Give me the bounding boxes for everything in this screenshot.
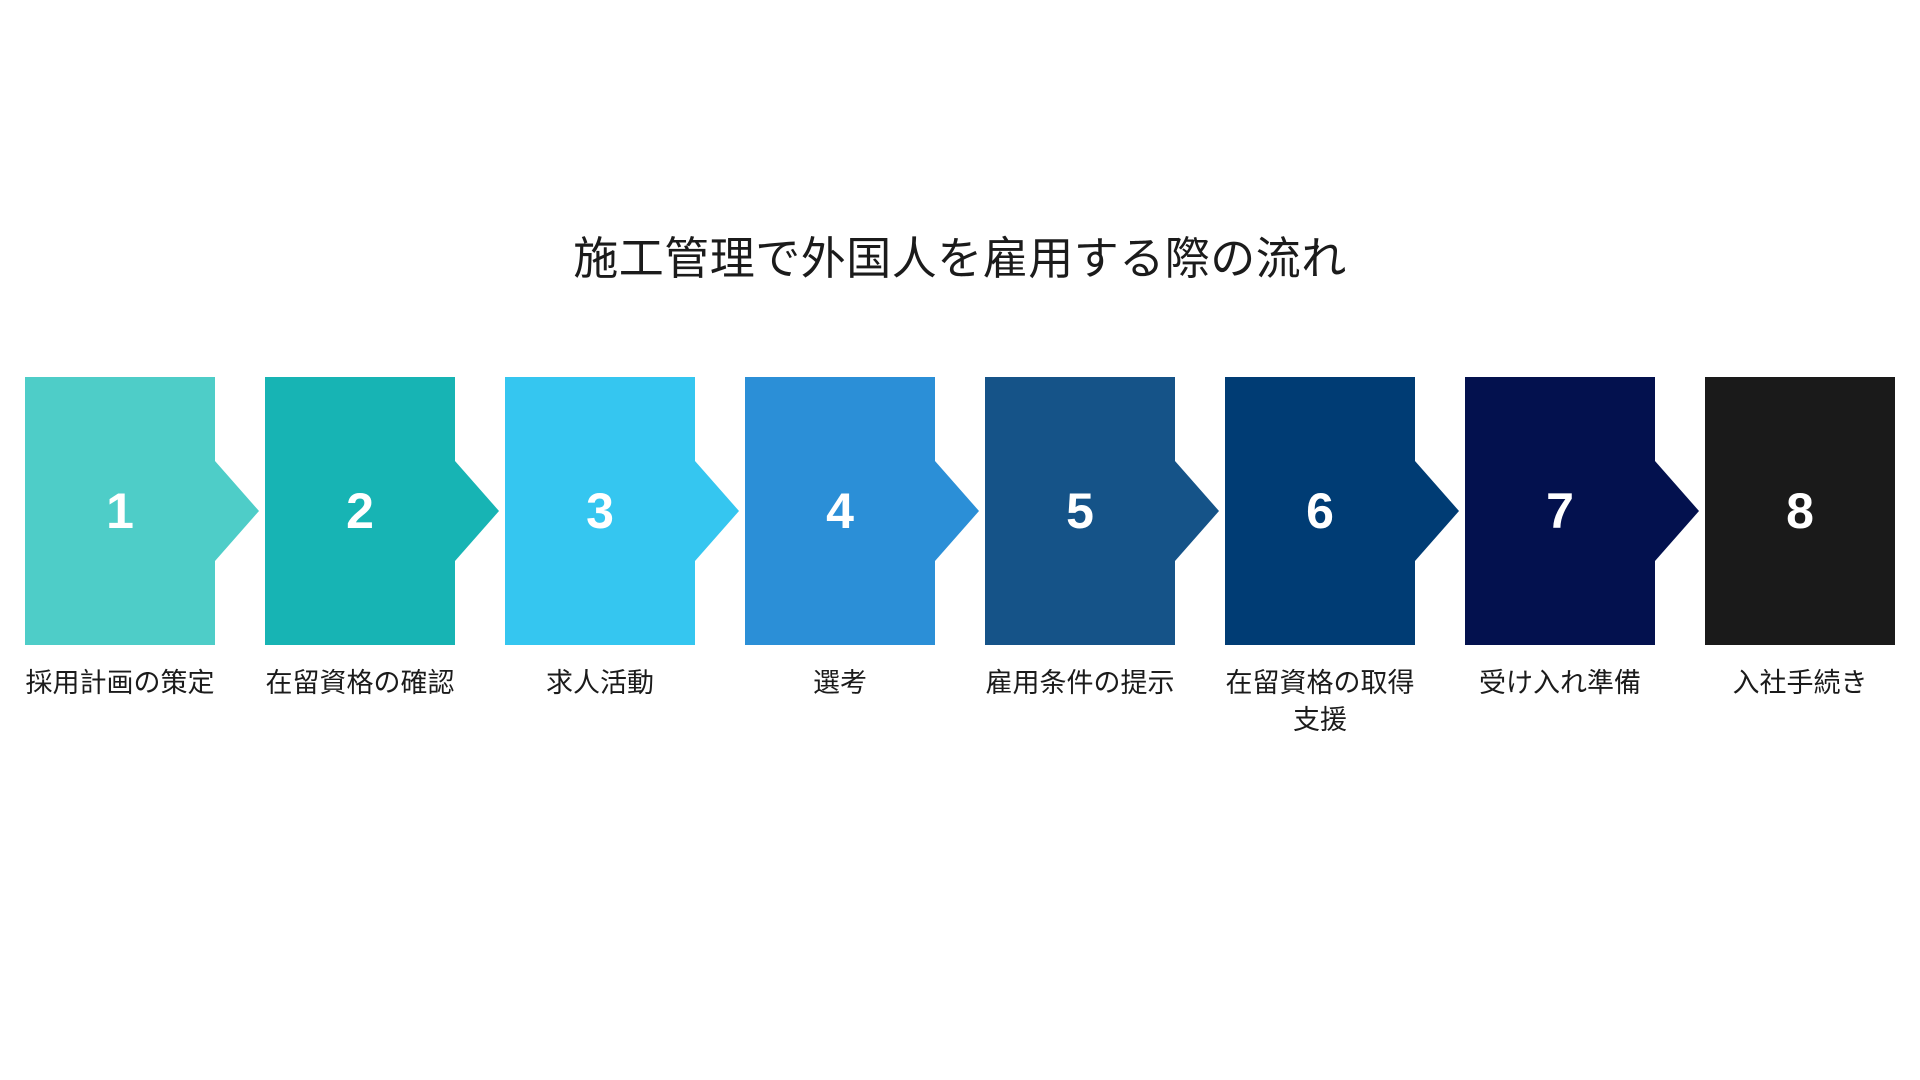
arrow-right-icon [1655, 461, 1699, 561]
arrow-right-icon [215, 461, 259, 561]
arrow-right-icon [695, 461, 739, 561]
process-step-2[interactable]: 2在留資格の確認 [265, 377, 455, 645]
process-step-1[interactable]: 1採用計画の策定 [25, 377, 215, 645]
step-number-8: 8 [1705, 377, 1895, 645]
diagram-canvas: 施工管理で外国人を雇用する際の流れ 1採用計画の策定2在留資格の確認3求人活動4… [0, 0, 1920, 1080]
arrow-right-icon [1415, 461, 1459, 561]
step-number-5: 5 [985, 377, 1175, 645]
step-number-7: 7 [1465, 377, 1655, 645]
process-step-7[interactable]: 7受け入れ準備 [1465, 377, 1655, 645]
step-label-2: 在留資格の確認 [257, 665, 463, 702]
step-label-6: 在留資格の取得支援 [1217, 665, 1423, 740]
step-number-1: 1 [25, 377, 215, 645]
step-label-7: 受け入れ準備 [1457, 665, 1663, 702]
step-number-2: 2 [265, 377, 455, 645]
arrow-right-icon [935, 461, 979, 561]
process-step-5[interactable]: 5雇用条件の提示 [985, 377, 1175, 645]
step-label-8: 入社手続き [1697, 665, 1903, 702]
process-step-6[interactable]: 6在留資格の取得支援 [1225, 377, 1415, 645]
step-label-1: 採用計画の策定 [17, 665, 223, 702]
step-number-4: 4 [745, 377, 935, 645]
page-title: 施工管理で外国人を雇用する際の流れ [0, 232, 1920, 286]
process-flow-row: 1採用計画の策定2在留資格の確認3求人活動4選考5雇用条件の提示6在留資格の取得… [25, 377, 1895, 647]
process-step-8[interactable]: 8入社手続き [1705, 377, 1895, 645]
step-number-3: 3 [505, 377, 695, 645]
arrow-right-icon [455, 461, 499, 561]
process-step-4[interactable]: 4選考 [745, 377, 935, 645]
step-number-6: 6 [1225, 377, 1415, 645]
arrow-right-icon [1175, 461, 1219, 561]
step-label-4: 選考 [737, 665, 943, 702]
process-step-3[interactable]: 3求人活動 [505, 377, 695, 645]
step-label-5: 雇用条件の提示 [977, 665, 1183, 702]
step-label-3: 求人活動 [497, 665, 703, 702]
